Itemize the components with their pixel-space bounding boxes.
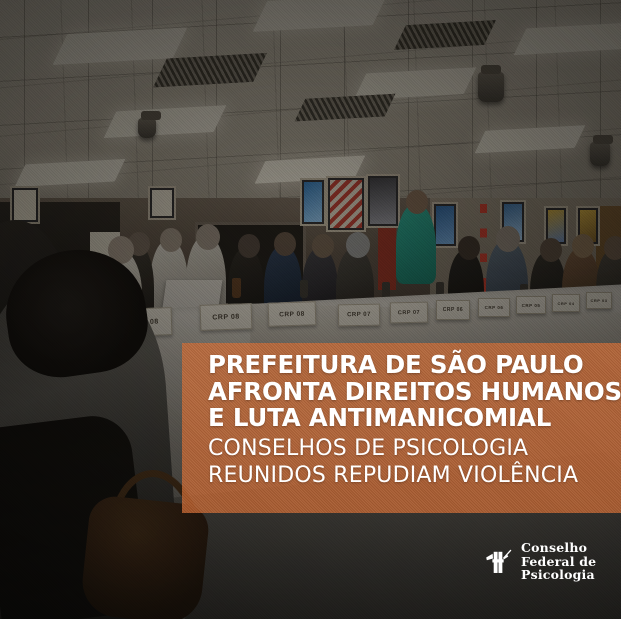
headline-line-1: PREFEITURA DE SÃO PAULO <box>208 352 621 379</box>
subhead: CONSELHOS DE PSICOLOGIA REUNIDOS REPUDIA… <box>208 435 621 489</box>
logo-wordmark: Conselho Federal de Psicologia <box>521 541 596 582</box>
background-photo: CRP 08 CRP 08 CRP 08 CRP 07 CRP 07 CRP 0… <box>0 0 621 619</box>
cfp-logo: Conselho Federal de Psicologia <box>484 541 596 582</box>
social-card: CRP 08 CRP 08 CRP 08 CRP 07 CRP 07 CRP 0… <box>0 0 621 619</box>
psi-figure-icon <box>484 546 514 577</box>
headline-line-2: AFRONTA DIREITOS HUMANOS <box>208 379 621 406</box>
subhead-line-2: REUNIDOS REPUDIAM VIOLÊNCIA <box>208 462 621 489</box>
subhead-line-1: CONSELHOS DE PSICOLOGIA <box>208 435 621 462</box>
headline-line-3: E LUTA ANTIMANICOMIAL <box>208 405 621 432</box>
logo-line-2: Federal de <box>521 555 596 569</box>
text-block: PREFEITURA DE SÃO PAULO AFRONTA DIREITOS… <box>208 352 621 489</box>
logo-line-1: Conselho <box>521 541 596 555</box>
photo-texture-overlay <box>0 0 621 619</box>
headline: PREFEITURA DE SÃO PAULO AFRONTA DIREITOS… <box>208 352 621 432</box>
logo-line-3: Psicologia <box>521 568 596 582</box>
